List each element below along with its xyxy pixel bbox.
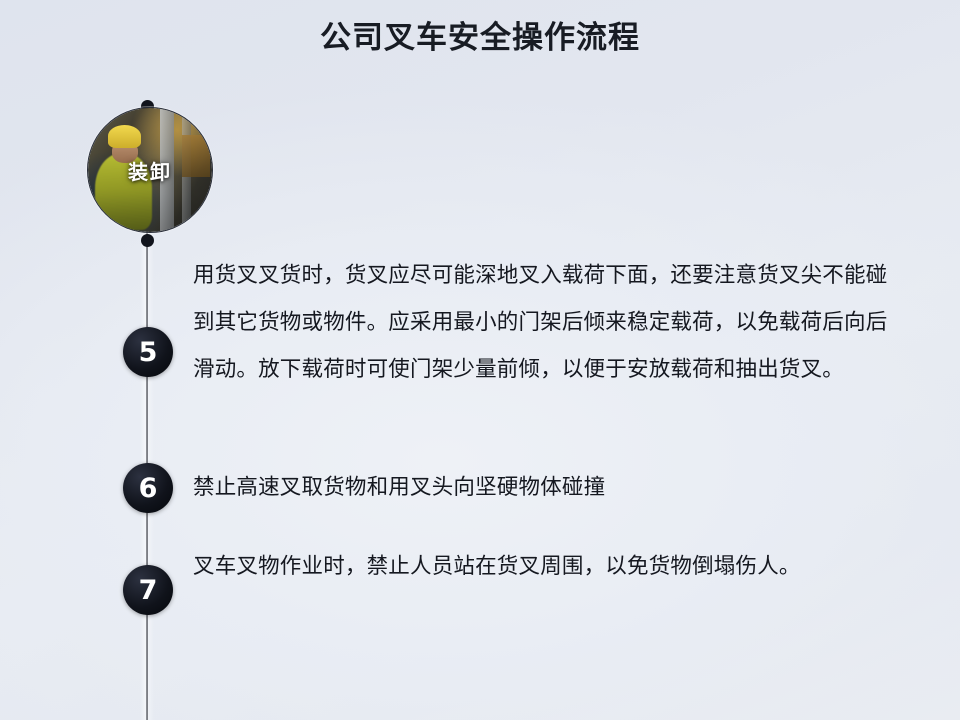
step-text-6: 禁止高速叉取货物和用叉头向坚硬物体碰撞 (193, 464, 893, 511)
step-text-5: 用货叉叉货时，货叉应尽可能深地叉入载荷下面，还要注意货叉尖不能碰到其它货物或物件… (193, 252, 905, 393)
page-title: 公司叉车安全操作流程 (0, 20, 960, 57)
timeline-node-dot-bottom (141, 234, 154, 247)
photo-node-label: 装卸 (88, 156, 212, 185)
step-text-7: 叉车叉物作业时，禁止人员站在货叉周围，以免货物倒塌伤人。 (193, 543, 893, 590)
step-badge-5[interactable]: 5 (123, 327, 173, 377)
step-badge-6[interactable]: 6 (123, 463, 173, 513)
step-badge-7[interactable]: 7 (123, 565, 173, 615)
photo-node-circle[interactable]: 装卸 (87, 107, 213, 233)
